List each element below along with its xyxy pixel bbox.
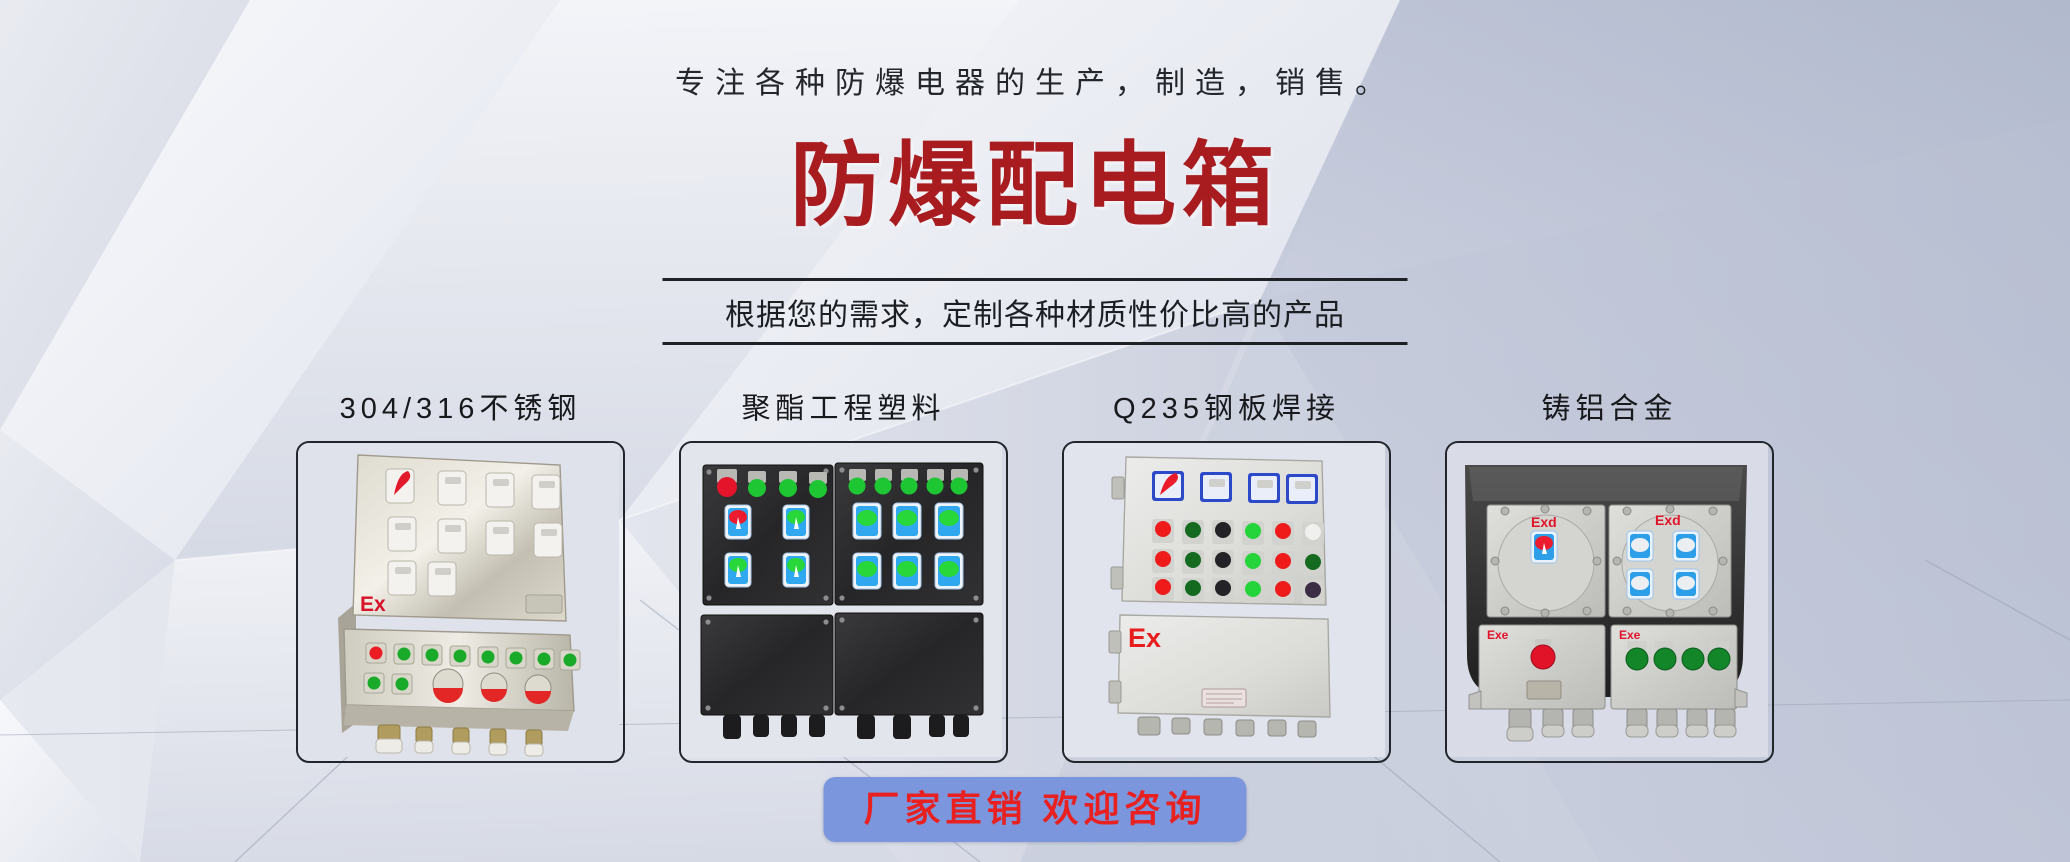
product-label: 聚酯工程塑料 — [741, 385, 945, 427]
cta-button[interactable]: 厂家直销 欢迎咨询 — [823, 777, 1246, 842]
product-card-polyester-plastic[interactable]: 聚酯工程塑料 — [681, 385, 1006, 765]
ex-marking: Ex — [360, 593, 386, 616]
ex-marking: Ex — [1128, 623, 1161, 653]
exe-marking-right: Exe — [1619, 628, 1641, 642]
banner-subtitle: 根据您的需求，定制各种材质性价比高的产品 — [663, 281, 1408, 342]
product-label: 铸铝合金 — [1541, 385, 1677, 427]
q235-steel-box-illustration: Ex — [1064, 443, 1385, 757]
exd-marking-right: Exd — [1655, 512, 1681, 528]
banner-headline: 专注各种防爆电器的生产，制造，销售。 — [0, 58, 2070, 102]
polyester-plastic-box-illustration — [681, 443, 1002, 757]
exd-marking-left: Exd — [1531, 514, 1557, 530]
product-image-frame — [679, 441, 1008, 763]
cast-aluminium-box-illustration: Exd Exd — [1447, 443, 1768, 757]
product-image-frame: Ex — [296, 441, 625, 763]
subtitle-block: 根据您的需求，定制各种材质性价比高的产品 — [663, 278, 1408, 345]
product-label: 304/316不锈钢 — [340, 385, 582, 427]
rule-bottom — [663, 342, 1408, 345]
product-card-stainless-steel[interactable]: 304/316不锈钢 — [298, 385, 623, 765]
product-image-frame: Exd Exd — [1445, 441, 1774, 763]
exe-marking-left: Exe — [1487, 628, 1509, 642]
product-image-frame: Ex — [1062, 441, 1391, 763]
page-title: 防爆配电箱 — [0, 140, 2070, 232]
product-card-cast-aluminium[interactable]: 铸铝合金 — [1447, 385, 1772, 765]
promo-banner: 专注各种防爆电器的生产，制造，销售。 防爆配电箱 根据您的需求，定制各种材质性价… — [0, 0, 2070, 862]
product-card-q235-steel[interactable]: Q235钢板焊接 — [1064, 385, 1389, 765]
product-label: Q235钢板焊接 — [1113, 385, 1340, 427]
stainless-steel-box-illustration: Ex — [298, 443, 619, 757]
product-list: 304/316不锈钢 — [0, 385, 2070, 765]
